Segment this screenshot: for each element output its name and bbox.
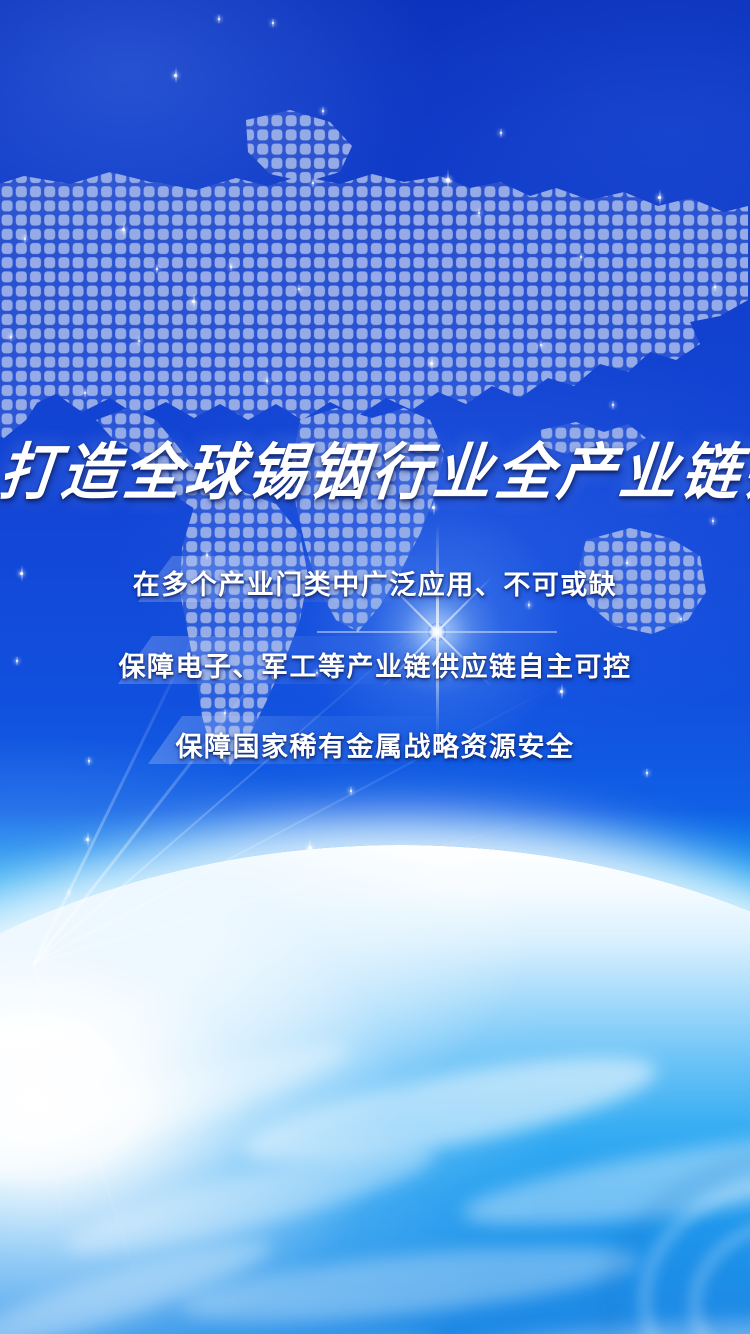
subtitle-group: 在多个产业门类中广泛应用、不可或缺 保障电子、军工等产业链供应链自主可控 保障国… [0,0,750,1334]
subtitle-line-1: 在多个产业门类中广泛应用、不可或缺 [0,563,750,602]
subtitle-line-3: 保障国家稀有金属战略资源安全 [0,725,750,764]
poster-canvas: 打造全球锡铟行业全产业链链主 在多个产业门类中广泛应用、不可或缺 保障电子、军工… [0,0,750,1334]
subtitle-line-2: 保障电子、军工等产业链供应链自主可控 [0,645,750,684]
